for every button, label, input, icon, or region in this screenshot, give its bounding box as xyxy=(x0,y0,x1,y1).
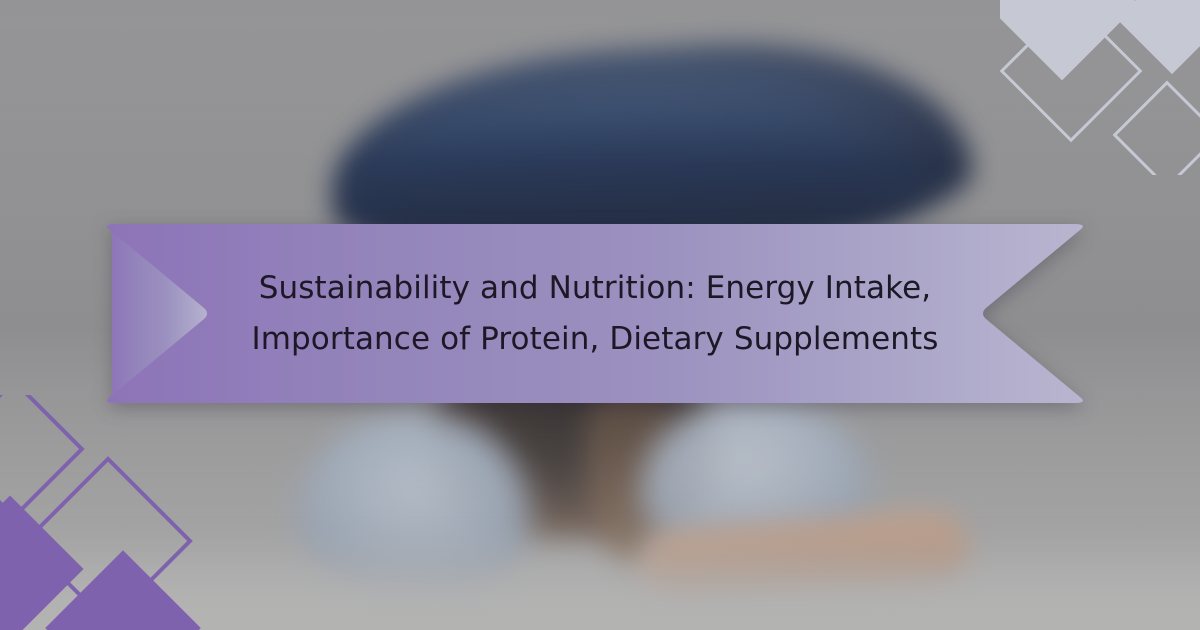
banner-title-line-2: Importance of Protein, Dietary Supplemen… xyxy=(251,314,938,364)
banner-title: Sustainability and Nutrition: Energy Int… xyxy=(102,224,1088,403)
banner-title-line-1: Sustainability and Nutrition: Energy Int… xyxy=(259,263,931,313)
banner-canvas: Sustainability and Nutrition: Energy Int… xyxy=(0,0,1200,630)
